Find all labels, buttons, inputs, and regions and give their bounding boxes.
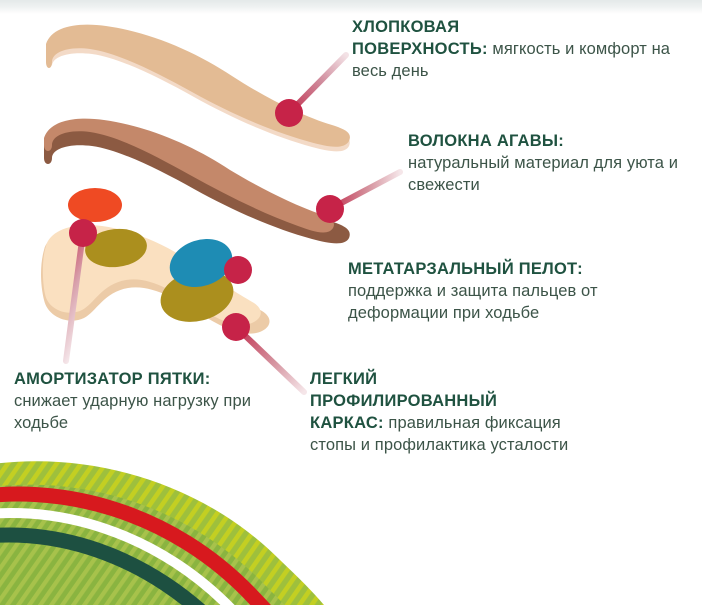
callout-agave-body: натуральный материал для уюта и свежести [408,154,678,194]
callout-heel-shock-absorber: АМОРТИЗАТОР ПЯТКИ: снижает ударную нагру… [14,368,304,434]
callout-frame-heading-line3: КАРКАС: [310,414,384,432]
marker-dot-cotton[interactable] [275,99,303,127]
callout-heel-body: снижает ударную нагрузку при ходьбе [14,392,251,432]
callout-cotton-heading-line1: ХЛОПКОВАЯ [352,18,459,36]
infographic-canvas: ХЛОПКОВАЯ ПОВЕРХНОСТЬ: мягкость и комфор… [0,0,702,605]
callout-agave-fibers: ВОЛОКНА АГАВЫ: натуральный материал для … [408,130,698,196]
callout-metatarsal-pad: МЕТАТАРЗАЛЬНЫЙ ПЕЛОТ: поддержка и защита… [348,258,698,324]
callout-frame-heading-line2: ПРОФИЛИРОВАННЫЙ [310,392,497,410]
callout-metatarsal-heading: МЕТАТАРЗАЛЬНЫЙ ПЕЛОТ: [348,260,583,278]
callout-frame-heading-line1: ЛЕГКИЙ [310,370,377,388]
callout-heel-heading: АМОРТИЗАТОР ПЯТКИ: [14,370,210,388]
callout-agave-heading: ВОЛОКНА АГАВЫ: [408,132,564,150]
marker-dot-metatarsal[interactable] [224,256,252,284]
callout-cotton-heading-line2: ПОВЕРХНОСТЬ: [352,40,488,58]
callout-metatarsal-body: поддержка и защита пальцев от деформации… [348,282,598,322]
marker-dot-agave[interactable] [316,195,344,223]
marker-dot-heel[interactable] [69,219,97,247]
callout-cotton-surface: ХЛОПКОВАЯ ПОВЕРХНОСТЬ: мягкость и комфор… [352,16,682,82]
heel-shock-absorber-pad [68,188,122,222]
callout-support-frame: ЛЕГКИЙ ПРОФИЛИРОВАННЫЙ КАРКАС: правильна… [310,368,600,456]
footer-decoration [0,461,352,605]
marker-dot-frame[interactable] [222,313,250,341]
